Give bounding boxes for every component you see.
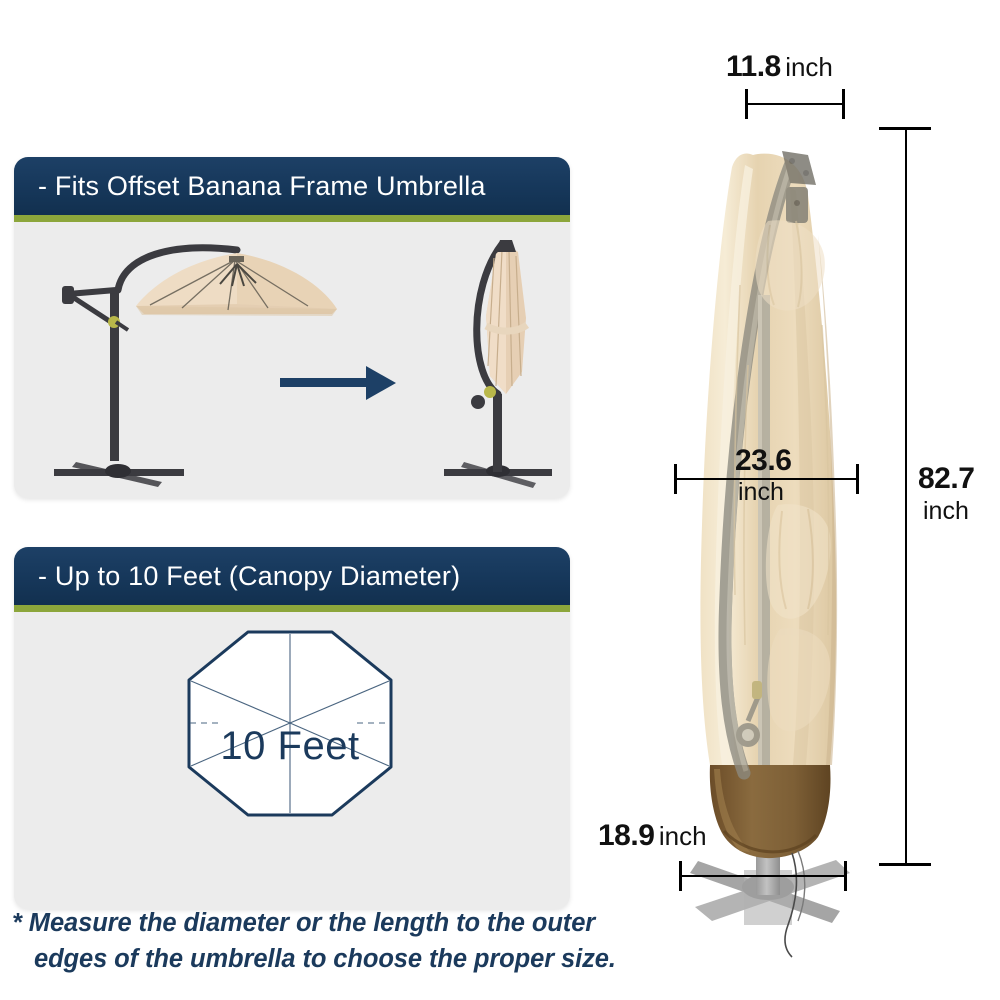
dimension-bottom-width-tick-right (844, 861, 847, 891)
dimension-top-width-label: 11.8 inch (726, 50, 833, 84)
dimension-total-height-unit: inch (923, 497, 969, 526)
panel-size-accent-bar (14, 605, 570, 612)
dimension-body-width-unit: inch (738, 478, 784, 507)
dimension-body-width-line (675, 478, 859, 480)
dimension-top-width-unit: inch (785, 52, 833, 82)
panel-fits-accent-bar (14, 215, 570, 222)
panel-fits-header: - Fits Offset Banana Frame Umbrella (14, 157, 570, 215)
dimension-bottom-width-unit: inch (659, 821, 707, 851)
open-offset-umbrella-illustration (32, 226, 342, 494)
dimension-total-height-line (905, 128, 907, 866)
footnote-line-2: edges of the umbrella to choose the prop… (12, 941, 712, 977)
dimension-total-height-tick-top (879, 127, 931, 130)
arrow-shaft (280, 378, 376, 387)
dimension-body-width-tick-right (856, 464, 859, 494)
dimension-top-width-line (746, 103, 844, 105)
footnote-line-1: * Measure the diameter or the length to … (12, 905, 712, 941)
closed-offset-umbrella-illustration (434, 226, 570, 494)
dimension-bottom-width-tick-left (679, 861, 682, 891)
dimension-bottom-width-line (680, 875, 846, 877)
octagon-canopy-diagram: 10 Feet (145, 625, 435, 875)
panel-size-header-label: - Up to 10 Feet (Canopy Diameter) (38, 561, 460, 592)
dimension-bottom-width-label: 18.9 inch (598, 819, 707, 853)
arrow-head-icon (366, 366, 396, 400)
dimension-bottom-width-value: 18.9 (598, 819, 654, 852)
page-root: - Fits Offset Banana Frame Umbrella (0, 0, 1000, 1000)
panel-fits-offset-banana-frame: - Fits Offset Banana Frame Umbrella (14, 157, 570, 498)
octagon-center-label: 10 Feet (145, 724, 435, 769)
transition-arrow (280, 362, 404, 402)
footnote: * Measure the diameter or the length to … (12, 905, 712, 977)
dimension-total-height-tick-bottom (879, 863, 931, 866)
dimension-top-width-tick-right (842, 89, 845, 119)
dimension-total-height-value: 82.7 (918, 462, 974, 496)
dimension-top-width-tick-left (745, 89, 748, 119)
panel-size-header: - Up to 10 Feet (Canopy Diameter) (14, 547, 570, 605)
dimension-body-width-tick-left (674, 464, 677, 494)
panel-fits-body (14, 222, 570, 498)
dimension-top-width-value: 11.8 (726, 50, 781, 83)
dimension-body-width-value: 23.6 (735, 444, 791, 478)
panel-fits-header-label: - Fits Offset Banana Frame Umbrella (38, 171, 486, 202)
